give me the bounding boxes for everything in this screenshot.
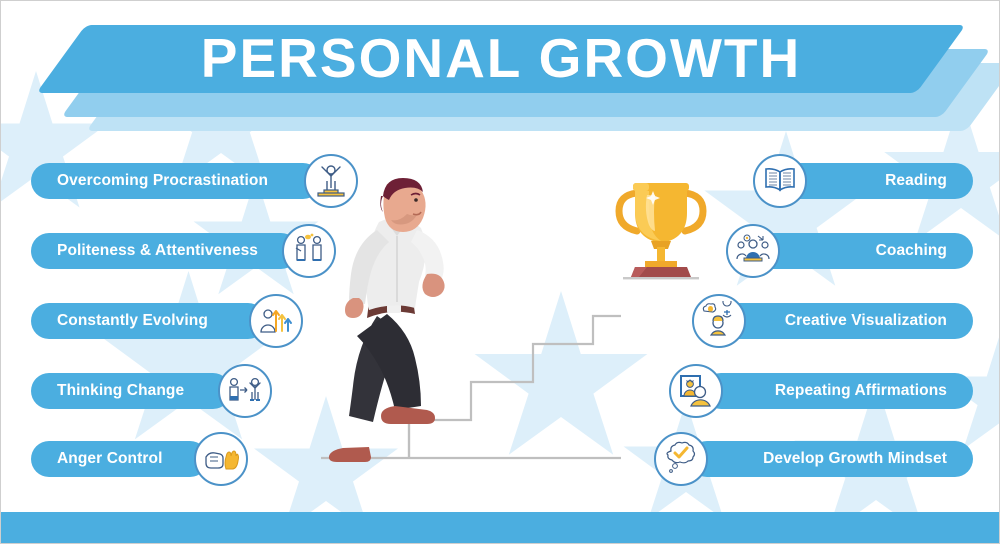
pill-creative-visualization[interactable]: Creative Visualization: [709, 303, 973, 339]
pill-develop-growth-mindset[interactable]: Develop Growth Mindset: [689, 441, 973, 477]
pill-constantly-evolving[interactable]: Constantly Evolving: [31, 303, 266, 339]
mirror-person-reflection-icon: [669, 364, 723, 418]
businessman-climbing-stairs-illustration: [321, 176, 621, 466]
list-item-right-2[interactable]: Creative Visualization: [641, 303, 1000, 339]
pill-thinking-change[interactable]: Thinking Change: [31, 373, 231, 409]
pill-politeness-attentiveness[interactable]: Politeness & Attentiveness: [31, 233, 299, 269]
list-item-label: Constantly Evolving: [57, 312, 208, 330]
fist-open-hand-icon: [194, 432, 248, 486]
pill-overcoming-procrastination[interactable]: Overcoming Procrastination: [31, 163, 321, 199]
person-idea-bulb-icon: [692, 294, 746, 348]
footer-bar: [1, 512, 1000, 543]
gold-trophy-icon: [597, 169, 725, 281]
coach-presenting-target-icon: [726, 224, 780, 278]
thought-bubble-check-icon: [654, 432, 708, 486]
page-title: PERSONAL GROWTH: [1, 27, 1000, 89]
list-item-label: Repeating Affirmations: [775, 382, 947, 400]
list-item-right-4[interactable]: Develop Growth Mindset: [641, 441, 1000, 477]
list-item-right-3[interactable]: Repeating Affirmations: [641, 373, 1000, 409]
list-item-label: Thinking Change: [57, 382, 184, 400]
person-arms-up-podium-icon: [304, 154, 358, 208]
list-item-left-2[interactable]: Constantly Evolving: [1, 303, 321, 339]
two-people-greeting-icon: [282, 224, 336, 278]
pill-repeating-affirmations[interactable]: Repeating Affirmations: [703, 373, 973, 409]
pill-coaching[interactable]: Coaching: [751, 233, 973, 269]
open-book-icon: [753, 154, 807, 208]
title-banner: PERSONAL GROWTH: [1, 1, 1000, 131]
list-item-label: Politeness & Attentiveness: [57, 242, 258, 260]
list-item-left-1[interactable]: Politeness & Attentiveness: [1, 233, 341, 269]
list-item-label: Coaching: [876, 242, 947, 260]
pill-anger-control[interactable]: Anger Control: [31, 441, 208, 477]
person-growth-arrows-icon: [249, 294, 303, 348]
person-transform-arrow-icon: [218, 364, 272, 418]
star-decoration: [96, 271, 281, 456]
list-item-label: Creative Visualization: [785, 312, 947, 330]
list-item-left-0[interactable]: Overcoming Procrastination: [1, 163, 361, 199]
list-item-left-4[interactable]: Anger Control: [1, 441, 281, 477]
infographic-poster: PERSONAL GROWTH Overcoming Procrastinati…: [0, 0, 1000, 544]
list-item-label: Anger Control: [57, 450, 163, 468]
list-item-left-3[interactable]: Thinking Change: [1, 373, 301, 409]
list-item-label: Develop Growth Mindset: [763, 450, 947, 468]
list-item-label: Reading: [885, 172, 947, 190]
list-item-label: Overcoming Procrastination: [57, 172, 268, 190]
